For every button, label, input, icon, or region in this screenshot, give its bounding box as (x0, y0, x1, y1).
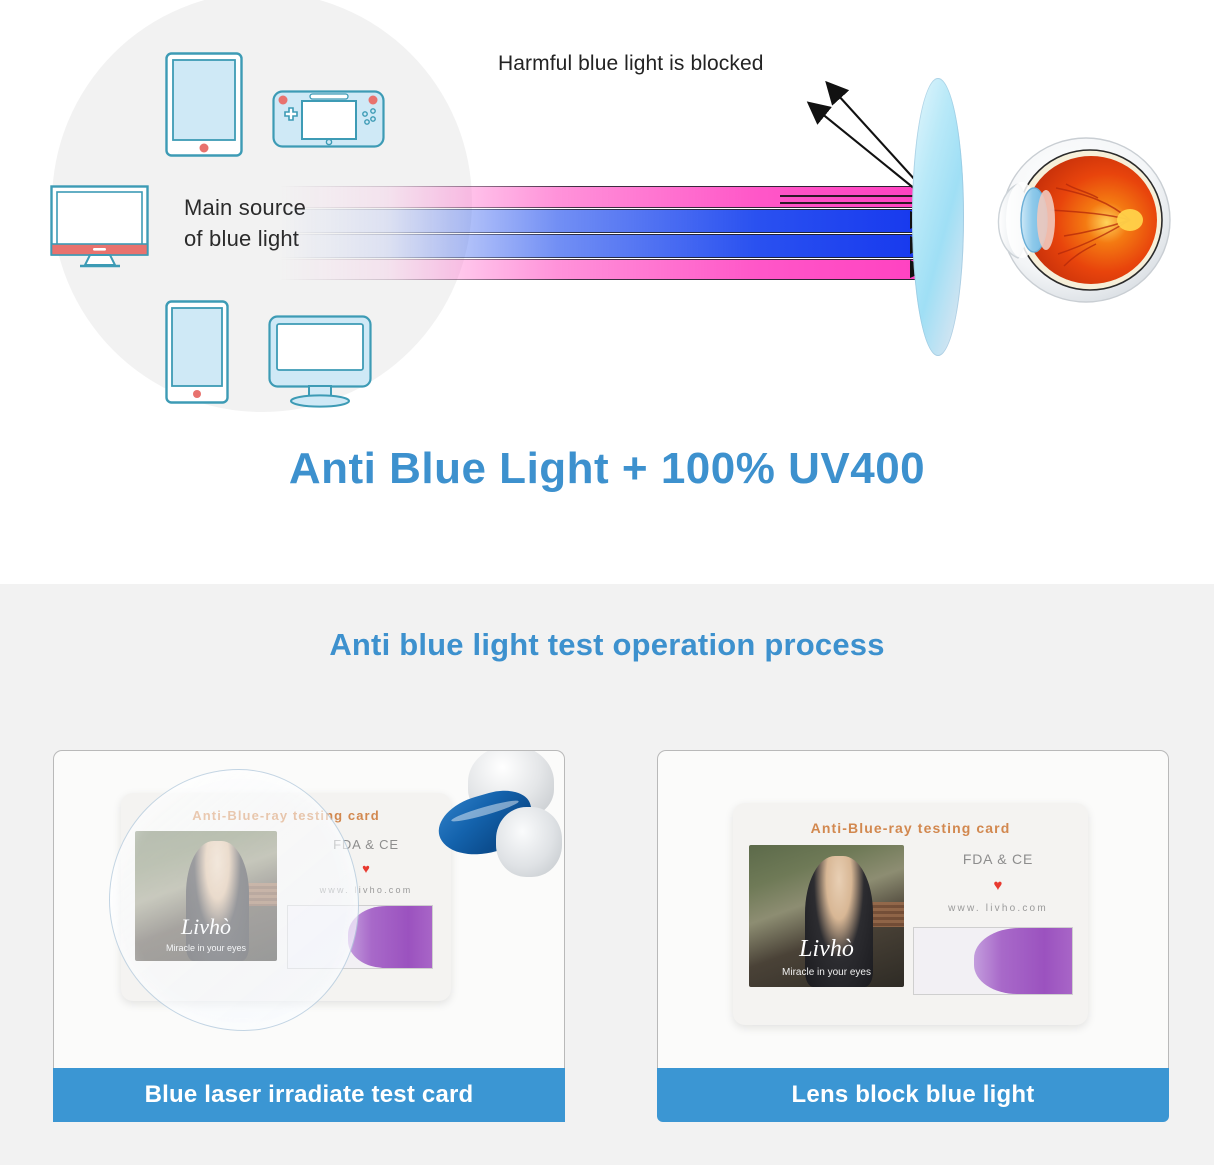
television-icon (50, 185, 149, 271)
blue-light-indicator-strip (913, 927, 1073, 995)
violet-reaction-area (348, 906, 432, 968)
card-model-photo: Livhò Miracle in your eyes (749, 845, 904, 987)
eye-anatomy-illustration (978, 132, 1176, 307)
product-infographic: Main source of blue light Harmful blue l… (0, 0, 1214, 1165)
photo-lens-block: Anti-Blue-ray testing card Livhò Miracle… (657, 750, 1169, 1068)
beam-pink-bottom (280, 259, 940, 280)
website-url: www. livho.com (918, 903, 1078, 914)
certification-label: FDA & CE (918, 851, 1078, 867)
harmful-light-blocked-label: Harmful blue light is blocked (498, 52, 764, 76)
eyeglass-lens-shape (912, 78, 964, 356)
heart-icon: ♥ (918, 877, 1078, 894)
gloved-finger-lower (496, 807, 562, 877)
card-title: Anti-Blue-ray testing card (733, 820, 1088, 836)
page-title: Anti Blue Light + 100% UV400 (0, 444, 1214, 494)
hero-section: Main source of blue light Harmful blue l… (0, 0, 1214, 584)
desktop-monitor-icon (268, 315, 372, 408)
laser-pointer-hand (440, 750, 560, 875)
brand-logo: Livhò (749, 936, 904, 963)
violet-reaction-area (974, 928, 1072, 994)
testing-card: Anti-Blue-ray testing card Livhò Miracle… (733, 803, 1088, 1025)
test-panel-lens-block: Anti-Blue-ray testing card Livhò Miracle… (657, 750, 1169, 1122)
panel-caption-laser: Blue laser irradiate test card (53, 1068, 565, 1122)
test-process-section: Anti blue light test operation process A… (0, 584, 1214, 1165)
smartphone-icon (165, 300, 229, 404)
game-console-icon (272, 90, 385, 148)
test-panel-laser: Anti-Blue-ray testing card Livhò Miracle… (53, 750, 565, 1122)
panel-caption-lens-block: Lens block blue light (657, 1068, 1169, 1122)
photo-laser-irradiate: Anti-Blue-ray testing card Livhò Miracle… (53, 750, 565, 1068)
section-title: Anti blue light test operation process (0, 627, 1214, 663)
tablet-icon (165, 52, 243, 157)
brand-tagline: Miracle in your eyes (749, 967, 904, 978)
